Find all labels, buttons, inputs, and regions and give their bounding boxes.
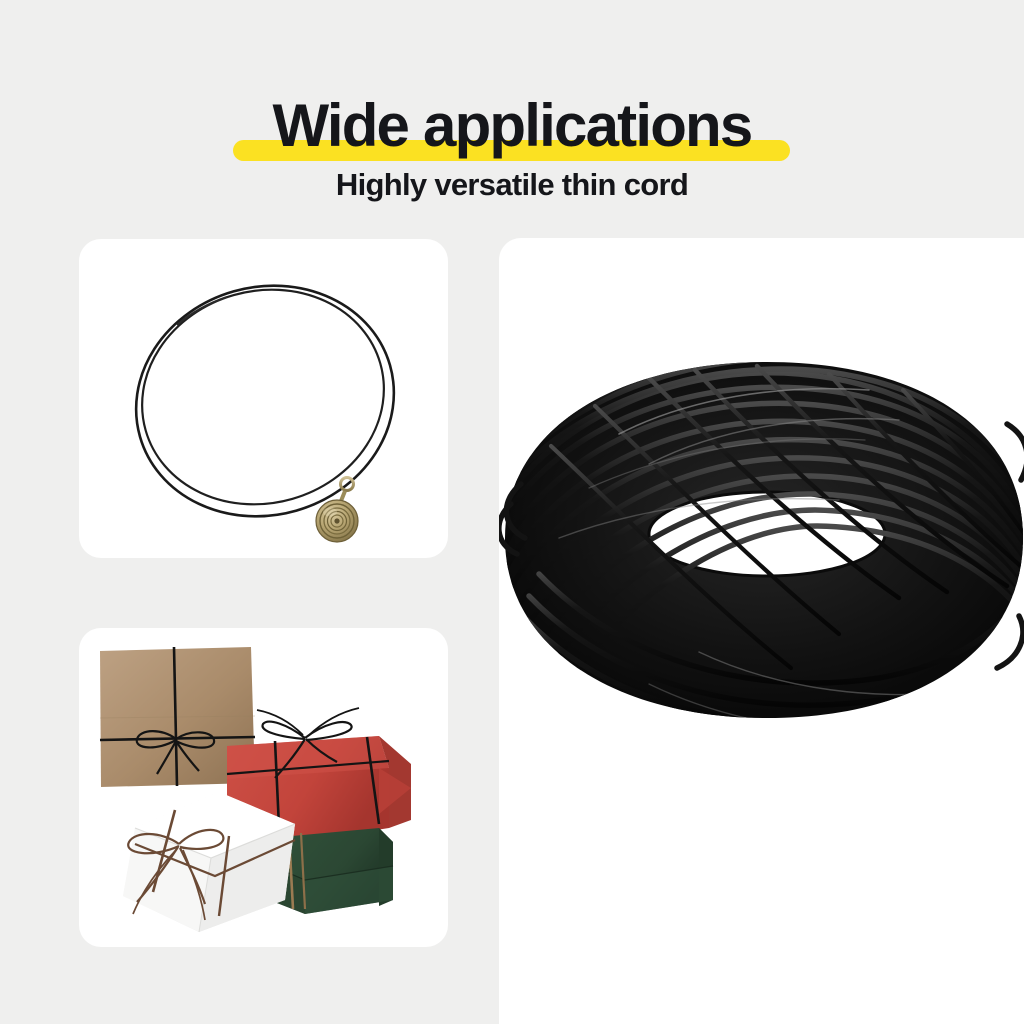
card-necklace [79, 239, 448, 558]
cord-coil-illustration [499, 238, 1024, 798]
header: Wide applications Highly versatile thin … [0, 0, 1024, 225]
pendant-medallion [316, 500, 358, 542]
card-gift-boxes [79, 628, 448, 947]
infographic-canvas: Wide applications Highly versatile thin … [0, 0, 1024, 1024]
page-title: Wide applications [273, 92, 752, 160]
page-subtitle: Highly versatile thin cord [0, 167, 1024, 203]
card-cord-coil: Ideal for delicate jewellery, beading, w… [499, 238, 1024, 1024]
coil-photo-area [499, 238, 1024, 798]
gift-boxes-illustration [79, 628, 448, 947]
necklace-cord-inner [117, 261, 410, 532]
page-title-wrap: Wide applications [0, 92, 1024, 164]
pendant-bail [341, 491, 345, 501]
necklace-illustration [79, 239, 448, 558]
